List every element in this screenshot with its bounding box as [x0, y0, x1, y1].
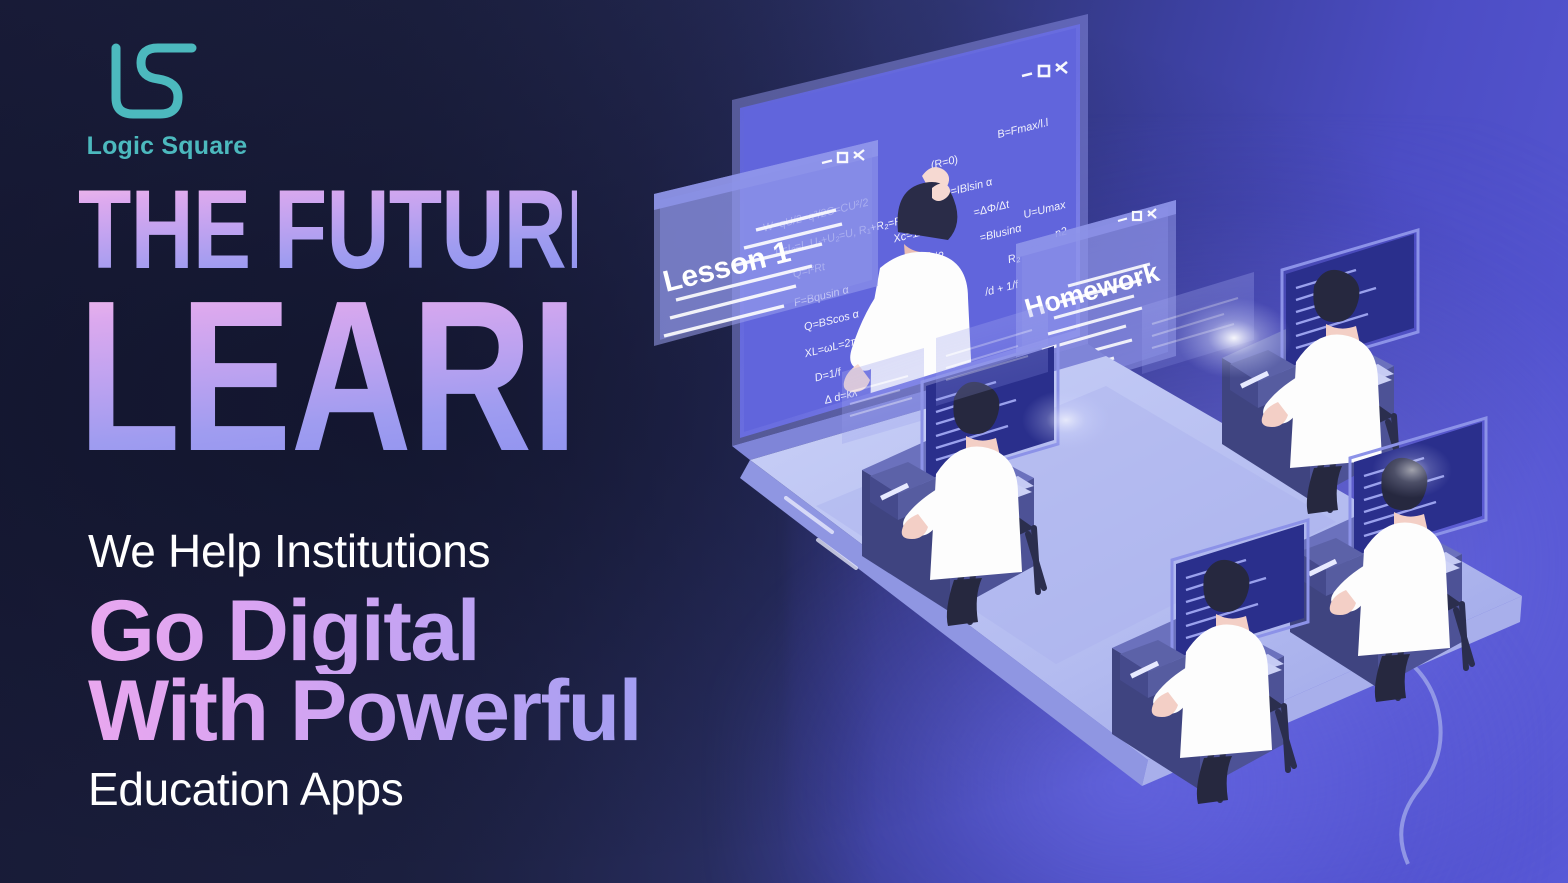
- classroom-illustration-svg: W=qU/2=q²/2C=CU²/2 (R=0) B=Fmax/l.l I₁=I…: [636, 0, 1568, 883]
- classroom-illustration: W=qU/2=q²/2C=CU²/2 (R=0) B=Fmax/l.l I₁=I…: [636, 0, 1568, 883]
- headline-line-2: LEARING: [78, 284, 577, 469]
- hero-banner: Logic Square THE FUTURE OF LEARING We He…: [0, 0, 1568, 883]
- brand-logo[interactable]: Logic Square: [74, 42, 294, 161]
- ls-monogram-icon: [108, 42, 200, 124]
- headline: THE FUTURE OF LEARING: [78, 182, 718, 469]
- brand-name: Logic Square: [74, 132, 260, 161]
